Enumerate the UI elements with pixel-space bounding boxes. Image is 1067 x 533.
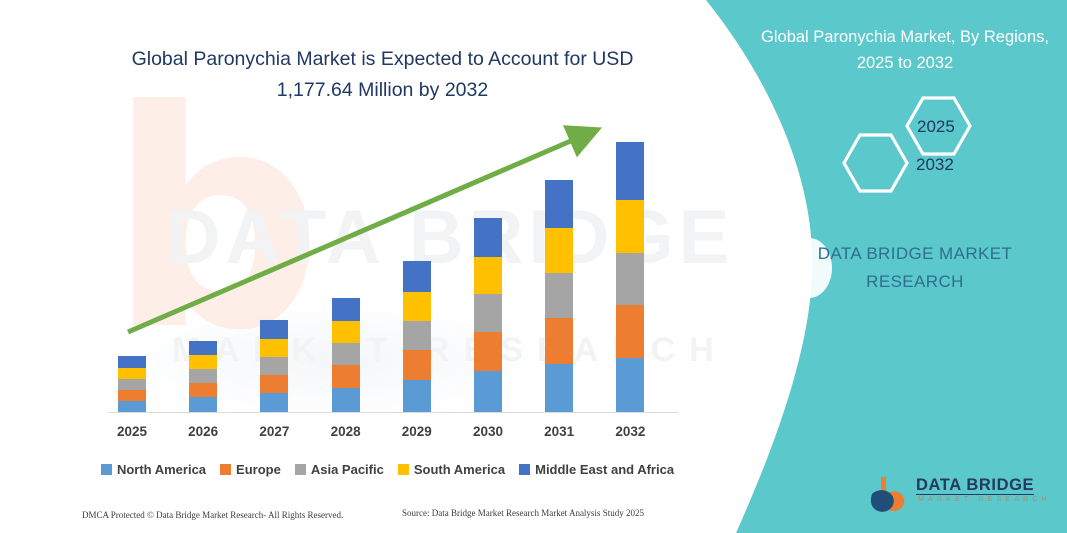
x-axis-label-2026: 2026 (173, 424, 233, 439)
logo-b-mark-icon (868, 474, 914, 516)
x-axis-labels: 20252026202720282029203020312032 (60, 424, 690, 446)
bar-segment-north-america-2027 (260, 393, 288, 412)
right-panel-title: Global Paronychia Market, By Regions, 20… (760, 24, 1050, 76)
copyright-text: DMCA Protected © Data Bridge Market Rese… (82, 510, 343, 520)
bar-segment-north-america-2030 (474, 371, 502, 412)
legend-item-south-america[interactable]: South America (398, 462, 505, 477)
legend-item-middle-east-and-africa[interactable]: Middle East and Africa (519, 462, 674, 477)
legend-swatch-europe (220, 464, 231, 475)
legend-label-middle-east-and-africa: Middle East and Africa (535, 462, 674, 477)
legend-label-north-america: North America (117, 462, 206, 477)
bar-segment-north-america-2029 (403, 380, 431, 412)
x-axis-label-2030: 2030 (458, 424, 518, 439)
legend-item-north-america[interactable]: North America (101, 462, 206, 477)
hexagon-group: 2032 2025 (820, 95, 1000, 205)
bar-segment-north-america-2028 (332, 388, 360, 412)
legend-swatch-asia-pacific (295, 464, 306, 475)
x-axis-label-2025: 2025 (102, 424, 162, 439)
legend-swatch-middle-east-and-africa (519, 464, 530, 475)
bar-segment-north-america-2026 (189, 397, 217, 412)
x-axis-label-2028: 2028 (316, 424, 376, 439)
legend-label-europe: Europe (236, 462, 281, 477)
source-text: Source: Data Bridge Market Research Mark… (402, 508, 644, 518)
chart-legend: North AmericaEuropeAsia PacificSouth Ame… (95, 459, 680, 479)
legend-swatch-north-america (101, 464, 112, 475)
bar-segment-europe-2026 (189, 383, 217, 397)
legend-item-asia-pacific[interactable]: Asia Pacific (295, 462, 384, 477)
page-title: Global Paronychia Market is Expected to … (110, 44, 655, 106)
infographic-canvas: b DATA BRIDGE MARKET RESEARCH Global Par… (0, 0, 1067, 533)
bar-segment-asia-pacific-2025 (118, 379, 146, 390)
bar-segment-europe-2025 (118, 390, 146, 401)
x-axis-label-2029: 2029 (387, 424, 447, 439)
right-panel-brand: DATA BRIDGE MARKET RESEARCH (790, 240, 1040, 296)
legend-item-europe[interactable]: Europe (220, 462, 281, 477)
growth-arrow-icon (60, 110, 690, 370)
hexagon-shapes (820, 95, 1000, 205)
x-axis-line (108, 412, 678, 413)
bar-segment-asia-pacific-2026 (189, 369, 217, 383)
hexagon-label-2025: 2025 (917, 117, 955, 137)
logo-tagline: MARKET RESEARCH (918, 496, 1051, 503)
x-axis-label-2031: 2031 (529, 424, 589, 439)
x-axis-label-2027: 2027 (244, 424, 304, 439)
legend-label-asia-pacific: Asia Pacific (311, 462, 384, 477)
bar-segment-north-america-2031 (545, 364, 573, 412)
data-bridge-logo: DATA BRIDGE MARKET RESEARCH (868, 474, 1040, 516)
logo-name: DATA BRIDGE (916, 476, 1034, 495)
legend-label-south-america: South America (414, 462, 505, 477)
x-axis-label-2032: 2032 (600, 424, 660, 439)
bar-segment-north-america-2025 (118, 401, 146, 412)
bar-segment-europe-2027 (260, 375, 288, 393)
legend-swatch-south-america (398, 464, 409, 475)
hexagon-label-2032: 2032 (916, 155, 954, 175)
